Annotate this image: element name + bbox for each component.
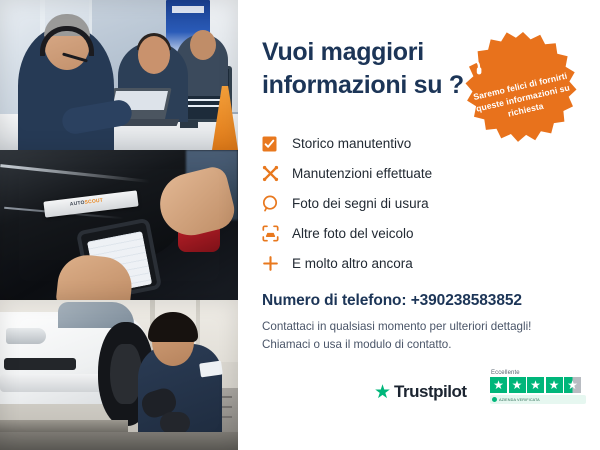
feature-label: Storico manutentivo	[292, 136, 411, 151]
second-agent-head	[138, 36, 170, 74]
feature-label: Foto dei segni di usura	[292, 196, 429, 211]
feature-item-wear-photos[interactable]: Foto dei segni di usura	[262, 188, 582, 218]
feature-list: Storico manutentivo Manutenzi	[262, 128, 582, 278]
content-panel: Vuoi maggiori informazioni su ? Saremo f…	[238, 0, 600, 450]
ruler-brand-label: AUTOSCOUT	[70, 198, 104, 208]
verified-company-badge: AZIENDA VERIFICATA	[490, 395, 586, 404]
trustpilot-wordmark: Trustpilot	[394, 382, 466, 402]
crossed-wrench-icon	[262, 165, 292, 182]
contact-line-2: Chiamaci o usa il modulo di contatto.	[262, 336, 582, 354]
star-filled: ★	[509, 377, 526, 393]
feature-item-maintenance-done[interactable]: Manutenzioni effettuate	[262, 158, 582, 188]
checked-clipboard-icon	[262, 135, 292, 152]
photo-collage: AUTOSCOUT	[0, 0, 238, 450]
headlight	[6, 328, 46, 344]
verified-check-icon	[492, 397, 497, 402]
mechanic-glove-second	[160, 412, 190, 434]
feature-label: Manutenzioni effettuate	[292, 166, 432, 181]
lift-platform	[0, 420, 128, 432]
star-filled: ★	[490, 377, 507, 393]
contact-instructions: Contattaci in qualsiasi momento per ulte…	[262, 318, 582, 355]
feature-item-vehicle-photos[interactable]: Altre foto del veicolo	[262, 218, 582, 248]
feature-item-service-history[interactable]: Storico manutentivo	[262, 128, 582, 158]
rating-label: Eccellente	[490, 370, 586, 376]
front-bumper	[0, 374, 104, 392]
call-center-photo	[0, 0, 238, 150]
promo-banner: AUTOSCOUT	[0, 0, 600, 450]
feature-label: E molto altro ancora	[292, 256, 413, 271]
rating-stars: ★ ★ ★ ★ ★	[490, 377, 586, 393]
trustpilot-widget[interactable]: ★ Trustpilot Eccellente ★ ★ ★ ★ ★ AZIEND…	[374, 370, 586, 426]
contact-line-1: Contattaci in qualsiasi momento per ulte…	[262, 318, 582, 336]
magnifier-icon	[262, 195, 292, 212]
trustpilot-star-icon: ★	[374, 383, 391, 402]
verified-label: AZIENDA VERIFICATA	[499, 397, 540, 401]
star-filled: ★	[546, 377, 563, 393]
garage-floor	[0, 432, 238, 450]
car-scan-icon	[262, 225, 292, 242]
trustpilot-rating: Eccellente ★ ★ ★ ★ ★ AZIENDA VERIFICATA	[490, 370, 586, 404]
plus-icon	[262, 255, 292, 272]
feature-item-more[interactable]: E molto altro ancora	[262, 248, 582, 278]
page-title: Vuoi maggiori informazioni su ?	[262, 36, 472, 102]
feature-label: Altre foto del veicolo	[292, 226, 414, 241]
star-half: ★	[564, 377, 581, 393]
front-grille	[4, 358, 76, 370]
phone-number[interactable]: Numero di telefono: +390238583852	[262, 292, 592, 310]
background-worker-head	[190, 30, 216, 60]
star-filled: ★	[527, 377, 544, 393]
trustpilot-logo: ★ Trustpilot	[374, 382, 467, 402]
tire-inspection-photo	[0, 300, 238, 450]
vehicle-inspection-photo: AUTOSCOUT	[0, 150, 238, 300]
